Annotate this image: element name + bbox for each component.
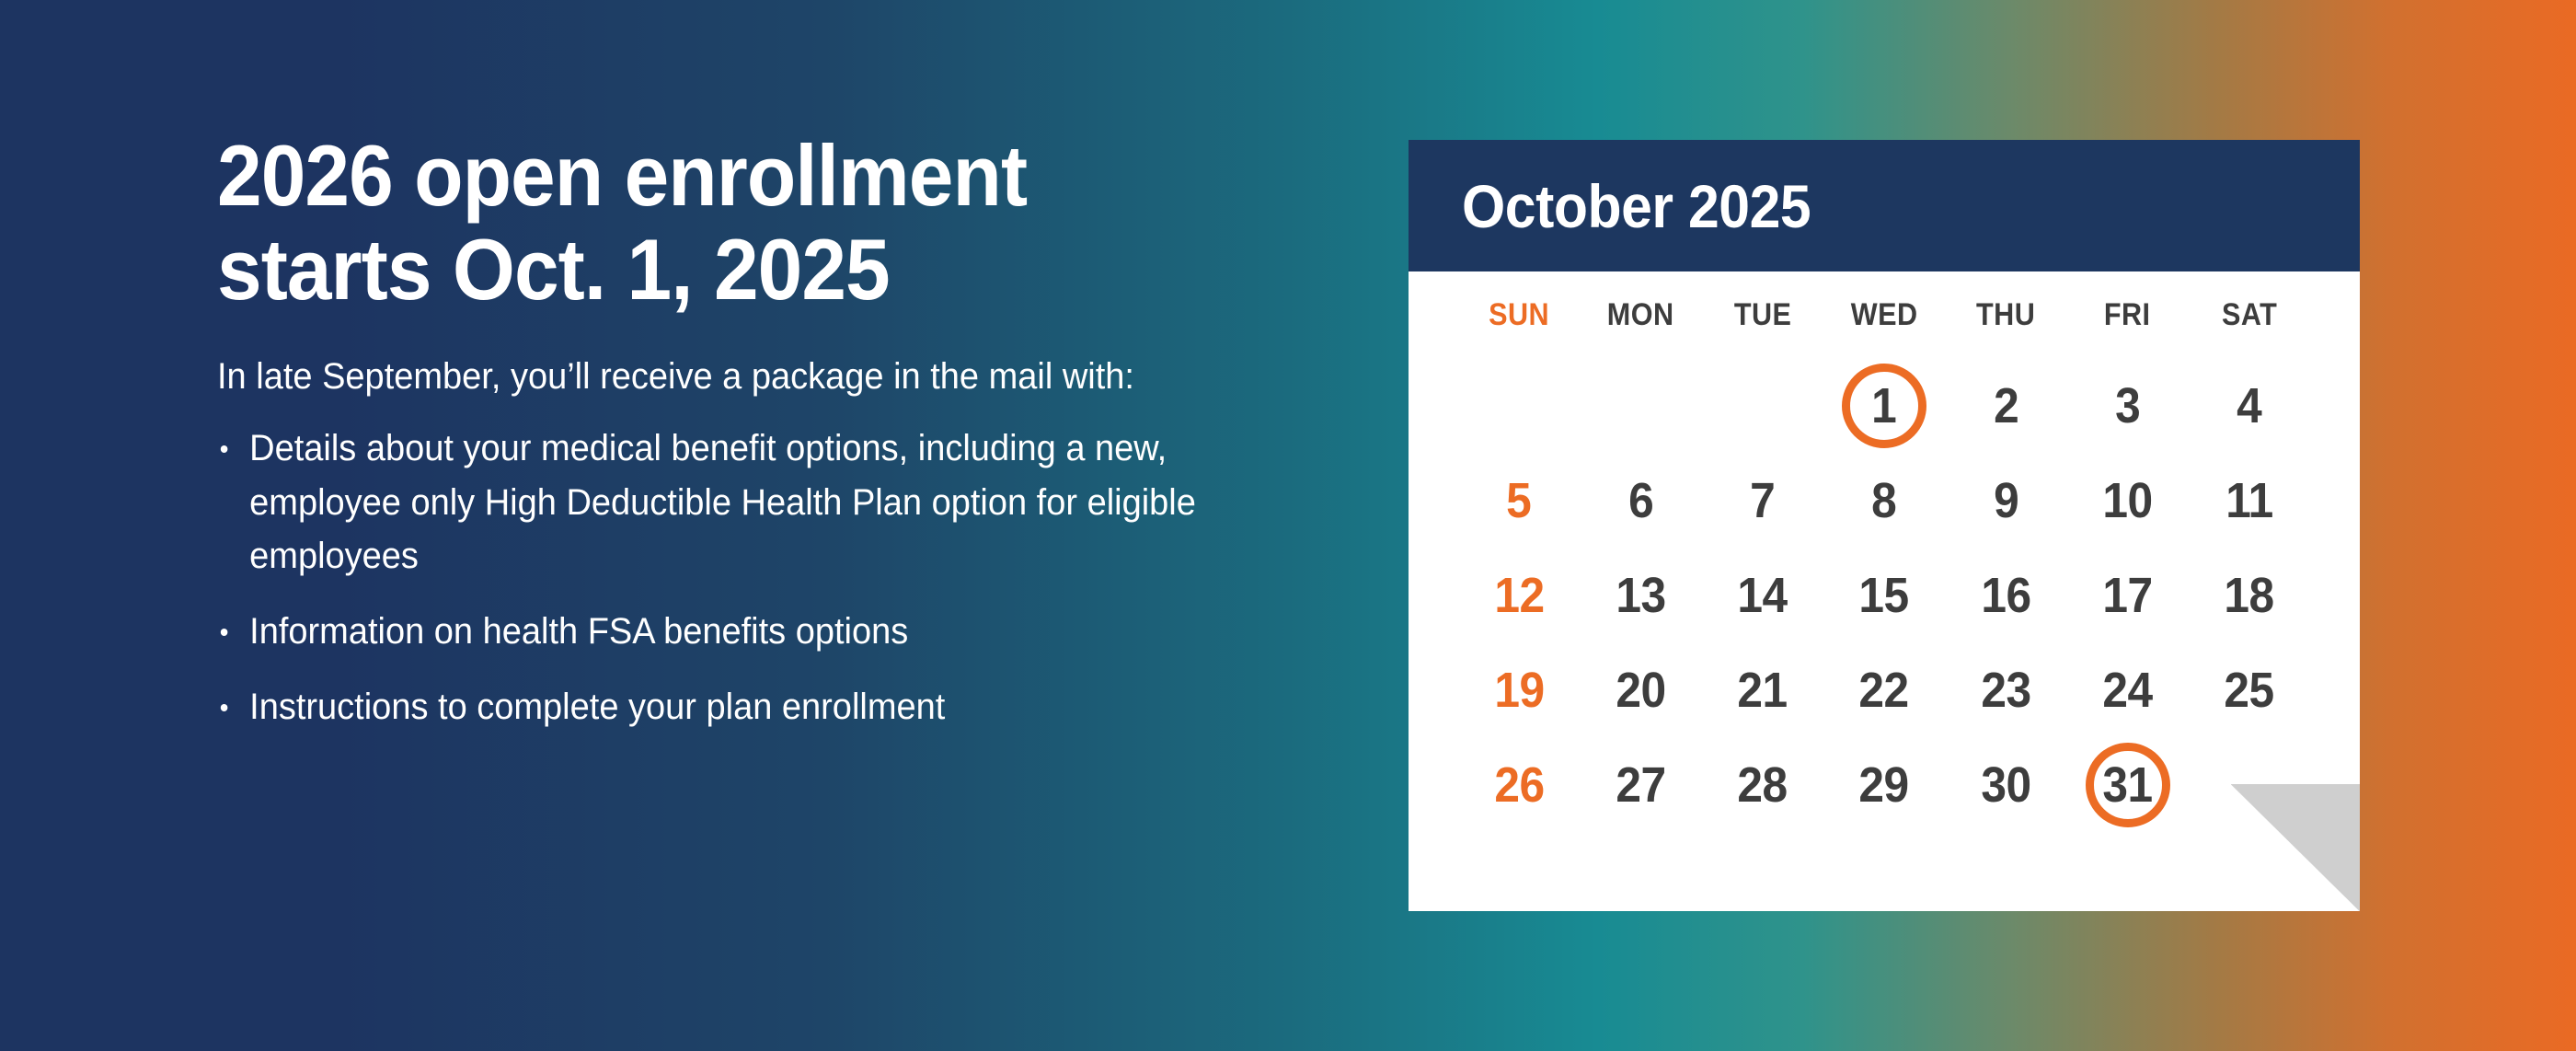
calendar-month-title: October 2025 xyxy=(1462,171,1811,241)
calendar-body: SUN MON TUE WED THU FRI SAT 1 2 3 4 5 xyxy=(1409,271,2360,832)
date-cell: 29 xyxy=(1823,737,1945,832)
calendar-weekday-row: SUN MON TUE WED THU FRI SAT xyxy=(1458,271,2310,358)
calendar-header: October 2025 xyxy=(1409,140,2360,271)
date-cell: 3 xyxy=(2066,358,2188,453)
list-item: Information on health FSA benefits optio… xyxy=(217,605,1237,659)
weekday-label-fri: FRI xyxy=(2073,297,2182,333)
date-cell: 15 xyxy=(1823,548,1945,642)
date-cell: 23 xyxy=(1945,642,2066,737)
date-cell: 20 xyxy=(1580,642,1701,737)
bullet-dot-icon xyxy=(221,629,228,636)
date-cell: 27 xyxy=(1580,737,1701,832)
date-cell: 26 xyxy=(1458,737,1580,832)
date-cell: 2 xyxy=(1945,358,2066,453)
list-item: Instructions to complete your plan enrol… xyxy=(217,680,1237,734)
bullet-dot-icon xyxy=(221,704,228,711)
weekday-label-tue: TUE xyxy=(1708,297,1817,333)
list-item-label: Details about your medical benefit optio… xyxy=(249,428,1196,577)
date-cell: 9 xyxy=(1945,453,2066,548)
date-cell: 19 xyxy=(1458,642,1580,737)
promo-text-column: 2026 open enrollment starts Oct. 1, 2025… xyxy=(217,129,1303,734)
date-cell: 5 xyxy=(1458,453,1580,548)
date-cell: 6 xyxy=(1580,453,1701,548)
date-cell: 7 xyxy=(1702,453,1823,548)
date-cell: 24 xyxy=(2066,642,2188,737)
benefits-bullet-list: Details about your medical benefit optio… xyxy=(217,422,1303,734)
calendar-week-row: 1 2 3 4 xyxy=(1458,358,2310,453)
date-cell: 8 xyxy=(1823,453,1945,548)
date-cell: 13 xyxy=(1580,548,1701,642)
date-cell xyxy=(1702,358,1823,453)
date-cell-circled-31: 31 xyxy=(2066,737,2188,832)
date-cell: 10 xyxy=(2066,453,2188,548)
date-cell: 22 xyxy=(1823,642,1945,737)
weekday-label-thu: THU xyxy=(1951,297,2061,333)
date-cell: 16 xyxy=(1945,548,2066,642)
open-enrollment-banner: 2026 open enrollment starts Oct. 1, 2025… xyxy=(0,0,2576,1051)
date-cell xyxy=(1580,358,1701,453)
date-cell: 17 xyxy=(2066,548,2188,642)
weekday-label-mon: MON xyxy=(1586,297,1696,333)
list-item: Details about your medical benefit optio… xyxy=(217,422,1237,583)
calendar-week-row: 19 20 21 22 23 24 25 xyxy=(1458,642,2310,737)
date-cell: 18 xyxy=(2189,548,2310,642)
calendar-week-row: 26 27 28 29 30 31 xyxy=(1458,737,2310,832)
list-item-label: Instructions to complete your plan enrol… xyxy=(249,687,945,727)
date-cell: 21 xyxy=(1702,642,1823,737)
date-cell: 14 xyxy=(1702,548,1823,642)
list-item-label: Information on health FSA benefits optio… xyxy=(249,611,908,652)
date-cell-circled-1: 1 xyxy=(1823,358,1945,453)
date-cell: 30 xyxy=(1945,737,2066,832)
date-cell: 25 xyxy=(2189,642,2310,737)
page-curl-icon xyxy=(2231,784,2360,911)
date-cell xyxy=(1458,358,1580,453)
date-cell: 28 xyxy=(1702,737,1823,832)
date-cell: 12 xyxy=(1458,548,1580,642)
date-cell: 4 xyxy=(2189,358,2310,453)
page-title: 2026 open enrollment starts Oct. 1, 2025 xyxy=(217,129,1226,316)
weekday-label-wed: WED xyxy=(1829,297,1938,333)
weekday-label-sun: SUN xyxy=(1465,297,1574,333)
intro-paragraph: In late September, you’ll receive a pack… xyxy=(217,352,1248,401)
bullet-dot-icon xyxy=(221,445,228,453)
weekday-label-sat: SAT xyxy=(2194,297,2304,333)
calendar-week-row: 5 6 7 8 9 10 11 xyxy=(1458,453,2310,548)
calendar-week-row: 12 13 14 15 16 17 18 xyxy=(1458,548,2310,642)
calendar-card: October 2025 SUN MON TUE WED THU FRI SAT… xyxy=(1409,140,2360,911)
date-cell: 11 xyxy=(2189,453,2310,548)
